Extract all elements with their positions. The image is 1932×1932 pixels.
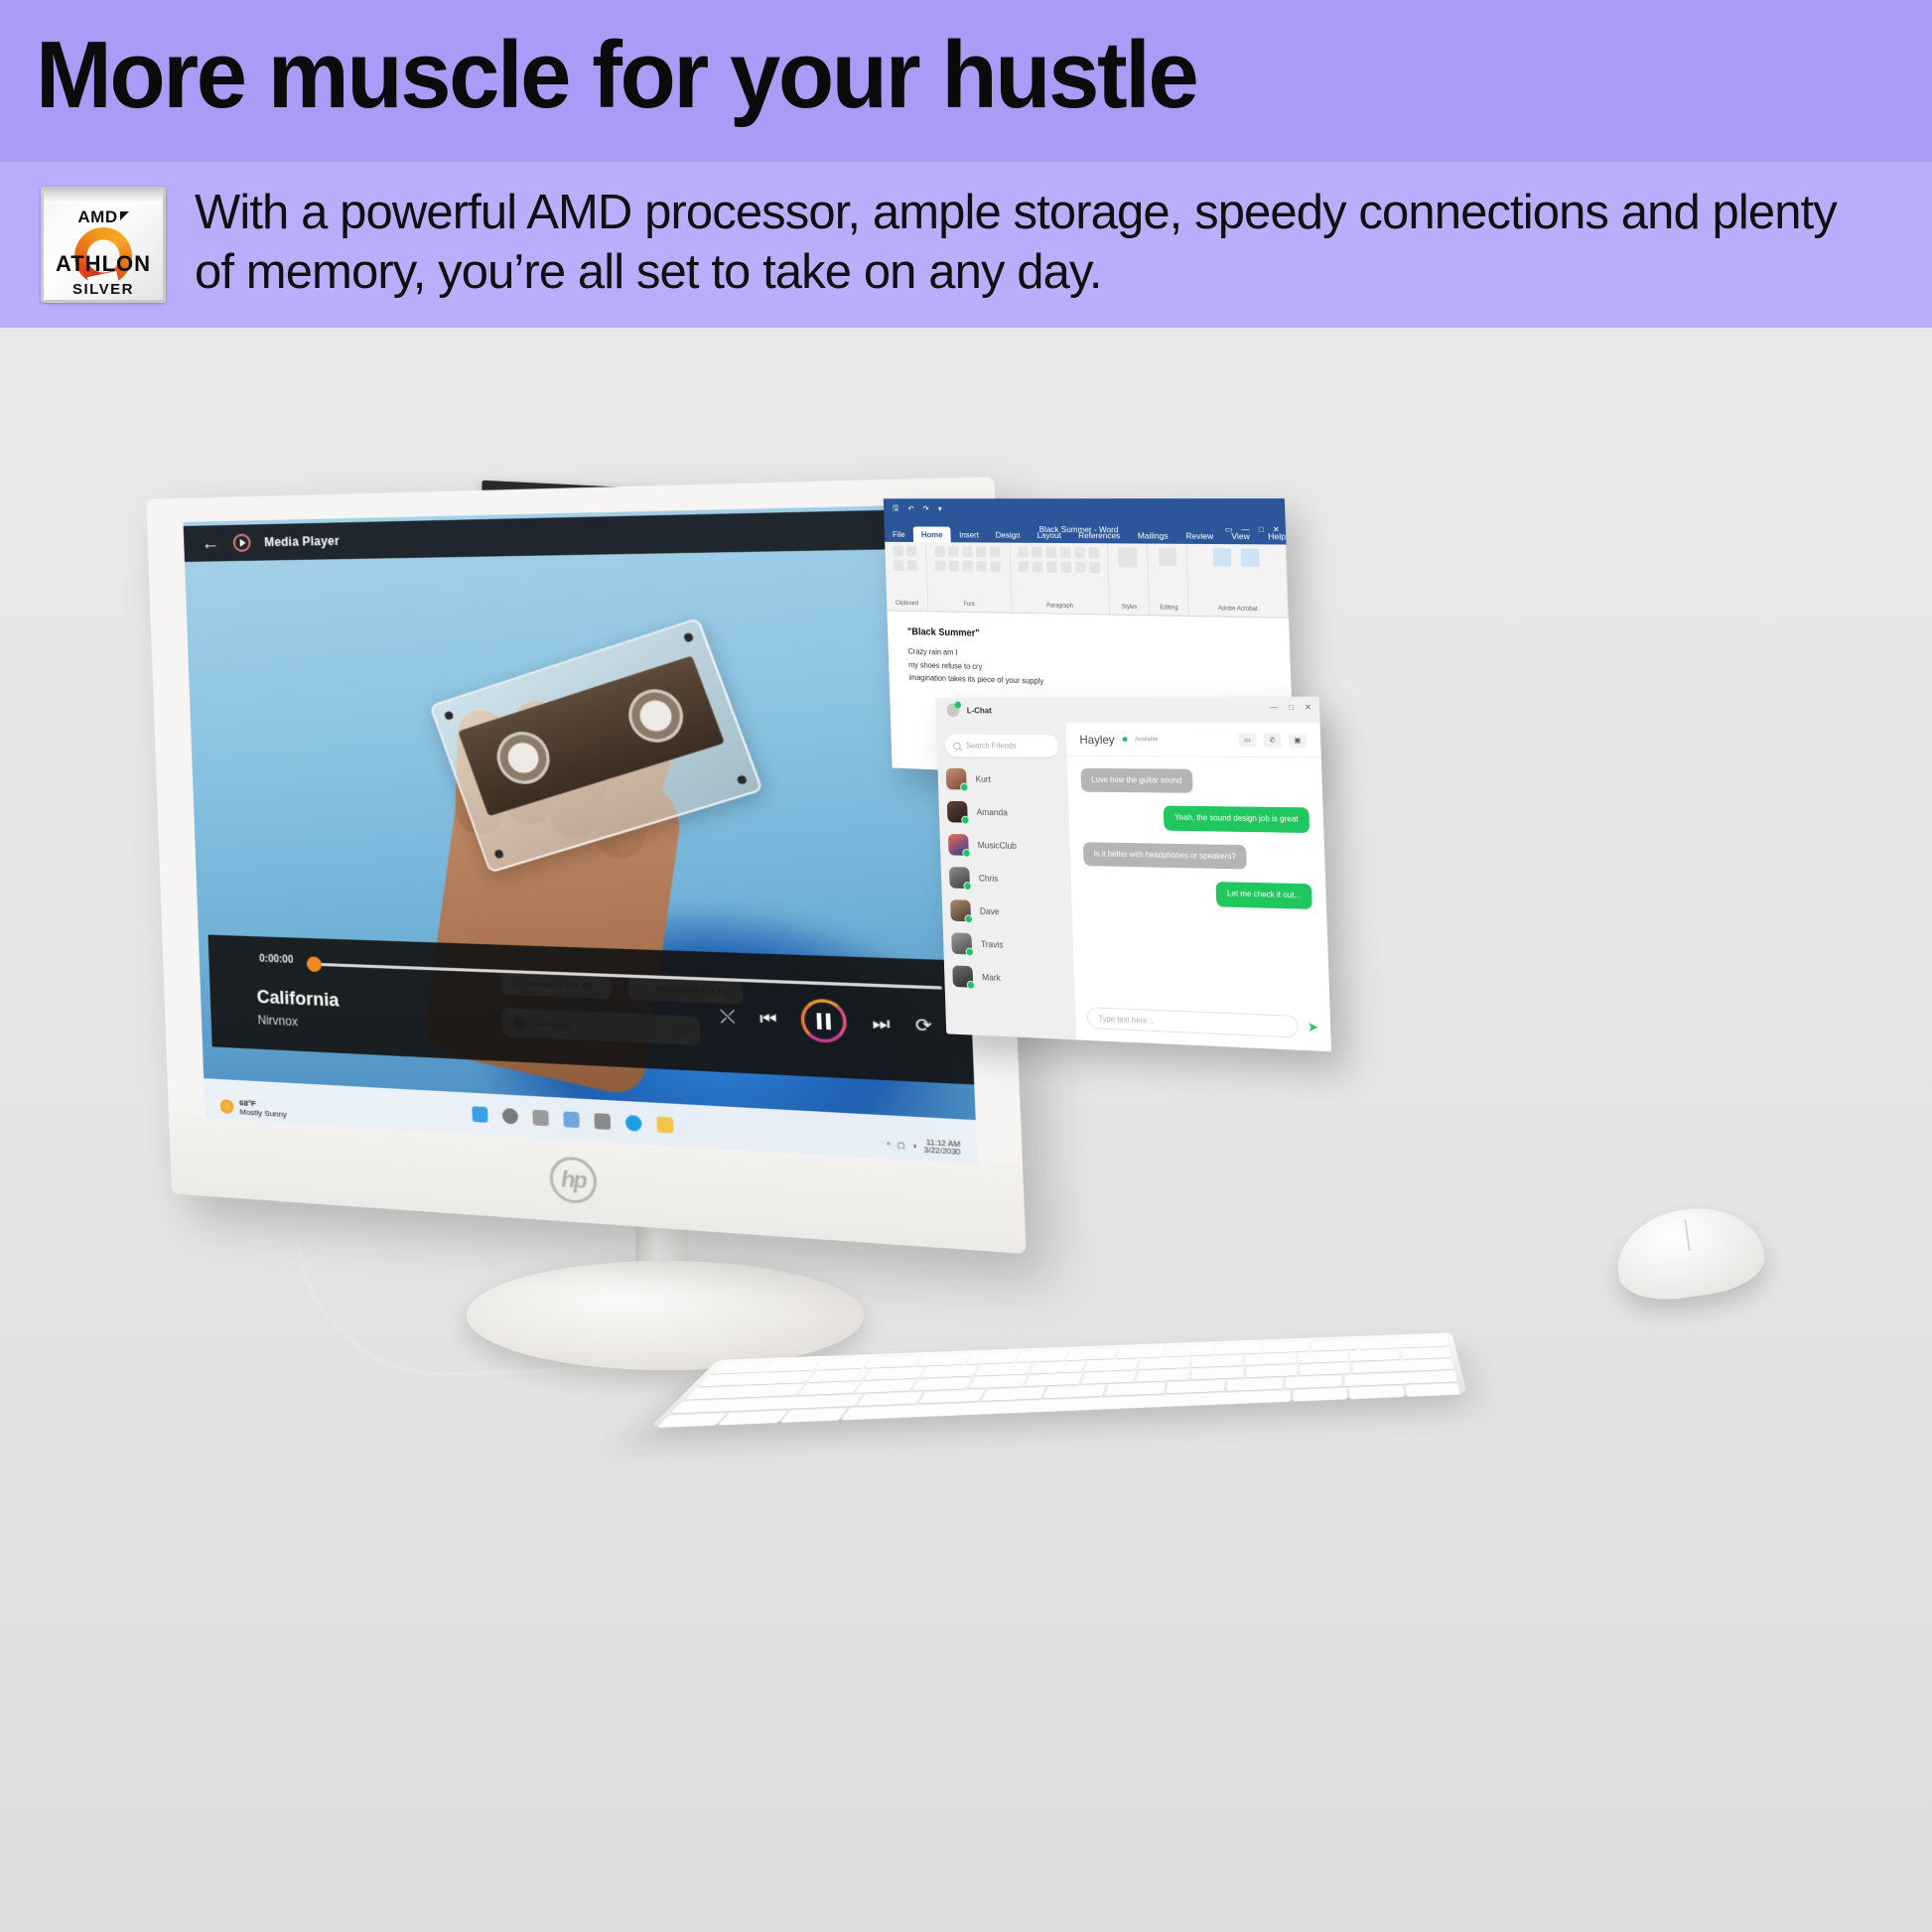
chat-icon[interactable]	[594, 1113, 611, 1130]
media-player-controls: 0:00:00 California Nirvnox ⤬ ⏮ ⏭ ⟳	[208, 935, 975, 1085]
status-dot-icon	[1122, 737, 1127, 742]
format-painter-icon[interactable]	[907, 560, 917, 571]
underline-icon[interactable]	[962, 546, 973, 557]
alt-key[interactable]	[780, 1408, 847, 1423]
list-item[interactable]: Dave	[950, 899, 1064, 924]
system-tray[interactable]: ^ ▢ ◑ 11:12 AM 3/22/2030	[887, 1137, 961, 1157]
badge-gloss	[44, 190, 163, 204]
playback-time: 0:00:00	[259, 954, 294, 966]
ribbon-tabs: File Home Insert Design Layout Reference…	[884, 519, 1286, 545]
key[interactable]	[1226, 1378, 1284, 1391]
tab-insert[interactable]: Insert	[951, 527, 988, 543]
avatar	[948, 834, 969, 856]
chat-app-name: L-Chat	[967, 705, 992, 715]
network-icon[interactable]: ▢	[897, 1141, 905, 1150]
document-title: Black Summer - Word	[1039, 524, 1119, 534]
media-player-titlebar: ← Media Player	[184, 508, 953, 562]
pause-button[interactable]	[800, 998, 848, 1043]
phone-icon[interactable]: ✆	[1263, 733, 1282, 747]
chat-app-icon	[946, 704, 959, 718]
avatar	[946, 768, 967, 790]
explorer-icon[interactable]	[656, 1116, 673, 1133]
key[interactable]	[798, 1382, 861, 1395]
key[interactable]	[1066, 1348, 1116, 1360]
highlight-icon[interactable]	[963, 561, 974, 572]
chat-window-controls: — □ ✕	[1270, 703, 1311, 712]
text-effects-icon[interactable]	[949, 561, 960, 572]
strikethrough-icon[interactable]	[976, 546, 987, 557]
friend-name: Chris	[979, 874, 999, 884]
minimize-icon[interactable]: —	[1270, 703, 1278, 712]
key[interactable]	[975, 1363, 1032, 1376]
hp-logo: hp	[549, 1156, 598, 1205]
message-bubble: Is it better with headphones or speakers…	[1083, 842, 1247, 870]
amd-brand-label: AMD	[44, 207, 163, 227]
amd-tier-label: SILVER	[44, 281, 163, 298]
group-label: Adobe Acrobat	[1218, 606, 1258, 613]
bold-icon[interactable]	[935, 546, 945, 557]
multilevel-list-icon[interactable]	[1045, 547, 1056, 558]
chevron-up-icon[interactable]: ^	[887, 1141, 891, 1149]
numbering-icon[interactable]	[1032, 547, 1042, 558]
ribbon-group-editing[interactable]: Editing	[1148, 544, 1189, 616]
key[interactable]	[919, 1365, 978, 1378]
weather-widget[interactable]: 68°F Mostly Sunny	[219, 1097, 287, 1119]
search-friends-input[interactable]: Search Friends	[945, 735, 1059, 758]
friend-name: MusicClub	[978, 840, 1017, 851]
win-key[interactable]	[719, 1411, 787, 1426]
list-item[interactable]: Mark	[952, 965, 1066, 991]
status-badge: Available	[1135, 737, 1159, 743]
message-bubble: Yeah, the sound design job is great	[1164, 806, 1310, 833]
key[interactable]	[1300, 1363, 1350, 1376]
mouse[interactable]	[1611, 1199, 1769, 1307]
media-player-app-icon	[233, 533, 251, 552]
friend-name: Amanda	[977, 807, 1009, 817]
start-icon[interactable]	[472, 1106, 487, 1123]
key[interactable]	[857, 1392, 923, 1406]
key[interactable]	[1084, 1359, 1139, 1371]
key[interactable]	[1025, 1373, 1081, 1386]
find-icon[interactable]	[1158, 548, 1175, 566]
maximize-icon[interactable]: □	[1289, 703, 1294, 712]
key[interactable]	[1191, 1367, 1244, 1380]
key[interactable]	[1080, 1371, 1136, 1384]
window-controls: ▭ — □ ✕	[1225, 525, 1280, 534]
styles-gallery-icon[interactable]	[1118, 547, 1138, 567]
document-heading: "Black Summer"	[907, 626, 1268, 645]
key[interactable]	[1401, 1347, 1451, 1359]
tray-date: 3/22/2030	[924, 1147, 961, 1157]
search-icon[interactable]	[501, 1107, 517, 1124]
ribbon-group-styles[interactable]: Styles	[1107, 543, 1150, 615]
media-player-title: Media Player	[264, 534, 340, 550]
ribbon-group-font[interactable]: Font	[926, 542, 1013, 613]
copy-icon[interactable]	[894, 560, 903, 571]
key[interactable]	[808, 1369, 869, 1382]
key[interactable]	[966, 1352, 1019, 1364]
taskview-icon[interactable]	[532, 1109, 549, 1126]
sort-icon[interactable]	[1088, 547, 1099, 558]
friend-name: Dave	[980, 906, 1000, 916]
tab-file[interactable]: File	[885, 526, 913, 542]
ribbon-group-paragraph[interactable]: Paragraph	[1010, 543, 1110, 615]
tab-mailings[interactable]: Mailings	[1129, 527, 1177, 543]
list-item[interactable]: Chris	[949, 867, 1063, 891]
monitor-screen: ← Media Player Gui Holter Monday at 9:24…	[184, 504, 978, 1165]
alt-key[interactable]	[1293, 1388, 1347, 1402]
chat-body: Search Friends Kurt Amanda MusicClub Chr…	[936, 723, 1331, 1051]
shading-icon[interactable]	[1089, 562, 1100, 573]
key[interactable]	[1245, 1353, 1296, 1365]
page-title: More muscle for your hustle	[36, 26, 1196, 126]
align-right-icon[interactable]	[1046, 562, 1057, 573]
group-label: Paragraph	[1046, 603, 1073, 609]
ribbon-options-icon[interactable]: ▭	[1225, 525, 1233, 534]
amd-family-label: ATHLON	[44, 251, 163, 277]
list-item[interactable]: Amanda	[947, 801, 1061, 824]
key[interactable]	[982, 1387, 1045, 1401]
monitor-stand-base	[467, 1261, 864, 1370]
close-icon[interactable]: ✕	[1273, 525, 1280, 534]
list-item[interactable]: Kurt	[946, 768, 1060, 791]
peer-name: Hayley	[1079, 733, 1115, 747]
maximize-icon[interactable]: □	[1259, 525, 1264, 534]
group-label: Font	[964, 602, 975, 608]
font-color-icon[interactable]	[977, 561, 988, 572]
paste-icon[interactable]	[894, 546, 903, 557]
key[interactable]	[1286, 1375, 1342, 1388]
weather-desc: Mostly Sunny	[239, 1107, 287, 1119]
bullets-icon[interactable]	[1018, 547, 1029, 558]
close-icon[interactable]: ✕	[1305, 703, 1311, 712]
key[interactable]	[814, 1358, 870, 1370]
search-icon	[953, 742, 961, 750]
conversation-actions: ▭ ✆ ▣	[1238, 733, 1307, 747]
tab-design[interactable]: Design	[987, 527, 1029, 543]
ctrl-key[interactable]	[1405, 1383, 1460, 1396]
key[interactable]	[1311, 1339, 1357, 1350]
chevron-down-icon[interactable]: ▾	[938, 504, 942, 513]
friend-name: Travis	[981, 939, 1004, 950]
key[interactable]	[1298, 1351, 1347, 1363]
increase-indent-icon[interactable]	[1074, 547, 1085, 558]
cut-icon[interactable]	[906, 546, 916, 557]
list-item[interactable]: MusicClub	[948, 834, 1062, 858]
key[interactable]	[864, 1367, 923, 1380]
undo-icon[interactable]: ↶	[907, 504, 913, 513]
mouse-cable	[1479, 1251, 1628, 1254]
key[interactable]	[919, 1390, 985, 1404]
message-bubble: Love how the guitar sound	[1080, 768, 1192, 793]
line-spacing-icon[interactable]	[1074, 562, 1085, 573]
justify-icon[interactable]	[1060, 562, 1071, 573]
chat-window[interactable]: L-Chat — □ ✕ Search Friends Kurt Ama	[935, 697, 1331, 1052]
next-icon[interactable]: ⏭	[872, 1014, 891, 1033]
decrease-indent-icon[interactable]	[1059, 547, 1070, 558]
message-bubble: Let me check it out...	[1216, 882, 1312, 908]
amd-athlon-silver-badge: AMD ATHLON SILVER	[41, 187, 166, 303]
message-compose-row: Type text here... ➤	[1087, 1007, 1319, 1038]
key[interactable]	[1116, 1347, 1165, 1359]
key[interactable]	[1017, 1350, 1068, 1362]
superscript-icon[interactable]	[935, 561, 945, 572]
volume-icon[interactable]: ◑	[911, 1143, 916, 1151]
media-player-window: ← Media Player Gui Holter Monday at 9:24…	[184, 504, 978, 1165]
amd-arrow-icon	[120, 211, 129, 220]
key[interactable]	[969, 1375, 1028, 1388]
request-signatures-icon[interactable]	[1241, 548, 1260, 567]
message-list: Love how the guitar sound Yeah, the soun…	[1067, 757, 1327, 921]
avatar	[947, 801, 968, 823]
message-input[interactable]: Type text here...	[1087, 1007, 1300, 1037]
ribbon-group-adobe-acrobat[interactable]: Adobe Acrobat	[1186, 544, 1289, 618]
key[interactable]	[1030, 1361, 1085, 1373]
key[interactable]	[1166, 1345, 1213, 1357]
now-playing-artist: Nirvnox	[257, 1013, 298, 1029]
align-center-icon[interactable]	[1032, 562, 1042, 573]
sun-icon	[219, 1099, 233, 1114]
align-left-icon[interactable]	[1018, 561, 1029, 572]
video-icon[interactable]: ▣	[1288, 733, 1307, 747]
avatar	[950, 899, 971, 921]
quick-access-toolbar: 🖫 ↶ ↷ ▾	[884, 498, 1286, 520]
now-playing-title: California	[256, 987, 339, 1012]
repeat-icon[interactable]: ⟳	[915, 1016, 932, 1035]
create-share-pdf-icon[interactable]	[1213, 548, 1232, 567]
group-label: Editing	[1160, 605, 1177, 611]
attach-icon[interactable]: ▭	[1238, 733, 1256, 747]
transport-controls: ⤬ ⏮ ⏭ ⟳	[719, 995, 932, 1047]
back-arrow-icon[interactable]: ←	[201, 534, 219, 553]
key[interactable]	[1349, 1349, 1399, 1361]
message-input-placeholder: Type text here...	[1098, 1014, 1154, 1025]
key[interactable]	[1191, 1355, 1243, 1367]
italic-icon[interactable]	[948, 546, 959, 557]
conversation-pane: Hayley Available ▭ ✆ ▣ Love how the guit…	[1066, 723, 1332, 1051]
key[interactable]	[711, 1362, 769, 1374]
chat-titlebar: L-Chat — □ ✕	[935, 697, 1319, 724]
send-icon[interactable]: ➤	[1308, 1019, 1319, 1035]
key[interactable]	[1263, 1341, 1309, 1353]
tab-review[interactable]: Review	[1176, 528, 1222, 545]
group-label: Styles	[1121, 605, 1137, 611]
avatar	[952, 965, 973, 987]
key[interactable]	[916, 1354, 970, 1366]
key[interactable]	[912, 1378, 972, 1391]
group-label: Clipboard	[896, 601, 919, 607]
redo-icon[interactable]: ↷	[922, 504, 928, 513]
list-item[interactable]: Travis	[951, 932, 1065, 957]
tab-home[interactable]: Home	[912, 526, 951, 542]
conversation-header: Hayley Available ▭ ✆ ▣	[1066, 723, 1321, 758]
key[interactable]	[1246, 1365, 1298, 1378]
shuffle-icon[interactable]: ⤬	[720, 1008, 736, 1027]
key[interactable]	[855, 1380, 916, 1393]
progress-track[interactable]	[315, 963, 942, 990]
edge-icon[interactable]	[624, 1114, 641, 1131]
product-scene: hp	[0, 328, 1932, 1932]
banner-body-text: With a powerful AMD processor, ample sto…	[195, 184, 1882, 303]
friend-name: Kurt	[975, 774, 991, 784]
avatar	[951, 932, 972, 954]
widgets-icon[interactable]	[563, 1111, 580, 1128]
key[interactable]	[762, 1360, 820, 1372]
key[interactable]	[1043, 1385, 1106, 1399]
avatar	[949, 867, 970, 889]
key[interactable]	[1166, 1380, 1224, 1393]
ribbon: Clipboard Font Paragraph Styles Editing …	[885, 542, 1289, 619]
search-placeholder: Search Friends	[966, 742, 1017, 751]
ribbon-group-clipboard[interactable]: Clipboard	[885, 542, 928, 611]
friend-name: Mark	[982, 972, 1001, 983]
fn-key[interactable]	[1349, 1386, 1404, 1400]
ctrl-key[interactable]	[657, 1413, 728, 1428]
friends-sidebar: Search Friends Kurt Amanda MusicClub Chr…	[936, 723, 1076, 1039]
grow-font-icon[interactable]	[991, 561, 1002, 572]
key[interactable]	[1105, 1382, 1166, 1396]
previous-icon[interactable]: ⏮	[759, 1009, 777, 1028]
key[interactable]	[1136, 1369, 1190, 1382]
subscript-icon[interactable]	[990, 546, 1001, 557]
key[interactable]	[1214, 1343, 1261, 1355]
key[interactable]	[1138, 1357, 1190, 1369]
save-icon[interactable]: 🖫	[893, 502, 899, 516]
progress-knob[interactable]	[307, 956, 323, 972]
minimize-icon[interactable]: —	[1241, 525, 1249, 534]
key[interactable]	[865, 1356, 919, 1368]
